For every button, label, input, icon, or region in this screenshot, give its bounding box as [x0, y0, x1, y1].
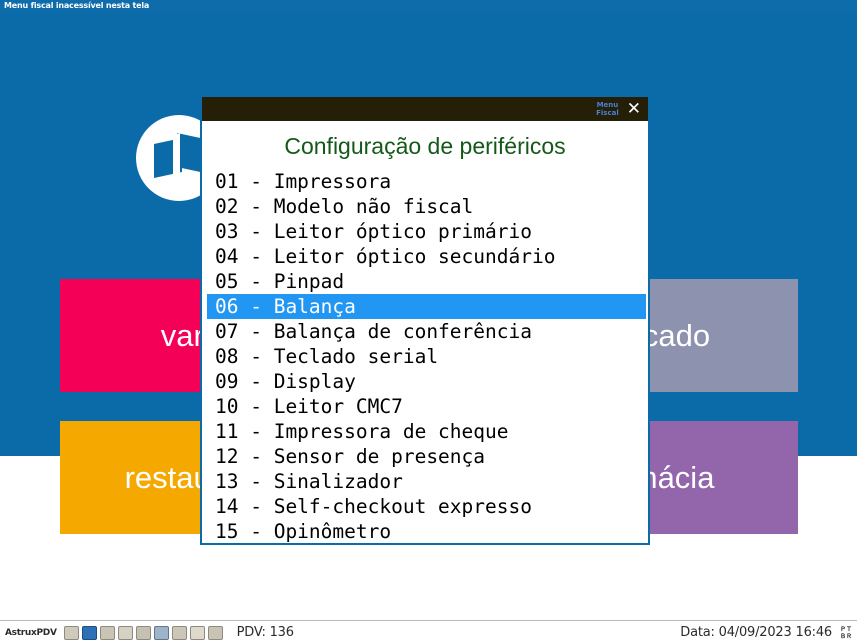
- status-pdv-label: PDV: 136: [237, 625, 294, 640]
- menu-item-06[interactable]: 06 - Balança: [207, 294, 646, 319]
- close-icon[interactable]: ✕: [624, 101, 644, 118]
- menu-item-08[interactable]: 08 - Teclado serial: [211, 344, 648, 369]
- top-notification-bar: Menu fiscal inacessível nesta tela: [0, 0, 857, 12]
- menu-item-10[interactable]: 10 - Leitor CMC7: [211, 394, 648, 419]
- fiscal-menu-button[interactable]: Menu Fiscal: [596, 101, 619, 117]
- menu-item-09[interactable]: 09 - Display: [211, 369, 648, 394]
- status-tray-icons: [64, 626, 223, 640]
- peripherals-menu-list: 01 - Impressora02 - Modelo não fiscal03 …: [202, 169, 648, 544]
- connection-icon[interactable]: [136, 626, 151, 640]
- status-app-name: AstruxPDV: [5, 628, 57, 638]
- status-bar: AstruxPDV PDV: 136 Data: 04/09/2023 16:4…: [0, 620, 857, 644]
- logo-shape-gap: [173, 133, 180, 178]
- language-line1: ＰＴ: [840, 626, 852, 633]
- menu-item-02[interactable]: 02 - Modelo não fiscal: [211, 194, 648, 219]
- menu-item-15[interactable]: 15 - Opinômetro: [211, 519, 648, 544]
- peripherals-config-dialog: Menu Fiscal ✕ Configuração de periférico…: [200, 97, 650, 545]
- fiscal-menu-line1: Menu: [596, 101, 619, 109]
- menu-item-07[interactable]: 07 - Balança de conferência: [211, 319, 648, 344]
- menu-item-04[interactable]: 04 - Leitor óptico secundário: [211, 244, 648, 269]
- monitor-icon[interactable]: [100, 626, 115, 640]
- printer-icon[interactable]: [118, 626, 133, 640]
- menu-item-01[interactable]: 01 - Impressora: [211, 169, 648, 194]
- menu-item-14[interactable]: 14 - Self-checkout expresso: [211, 494, 648, 519]
- status-date-label: Data: 04/09/2023 16:46: [680, 625, 832, 640]
- screen-icon[interactable]: [208, 626, 223, 640]
- fiscal-menu-line2: Fiscal: [596, 109, 619, 117]
- remote-desktop-icon[interactable]: [82, 626, 97, 640]
- dialog-titlebar: Menu Fiscal ✕: [202, 97, 648, 121]
- language-line2: ＢＲ: [840, 633, 852, 640]
- language-indicator[interactable]: ＰＴ ＢＲ: [840, 626, 852, 640]
- menu-item-12[interactable]: 12 - Sensor de presença: [211, 444, 648, 469]
- user-icon[interactable]: [172, 626, 187, 640]
- menu-item-11[interactable]: 11 - Impressora de cheque: [211, 419, 648, 444]
- network-icon[interactable]: [64, 626, 79, 640]
- pos-application-screen: Menu fiscal inacessível nesta tela V var…: [0, 0, 857, 644]
- menu-item-05[interactable]: 05 - Pinpad: [211, 269, 648, 294]
- menu-item-13[interactable]: 13 - Sinalizador: [211, 469, 648, 494]
- menu-item-03[interactable]: 03 - Leitor óptico primário: [211, 219, 648, 244]
- shield-icon[interactable]: [154, 626, 169, 640]
- device-icon[interactable]: [190, 626, 205, 640]
- dialog-title: Configuração de periféricos: [202, 121, 648, 169]
